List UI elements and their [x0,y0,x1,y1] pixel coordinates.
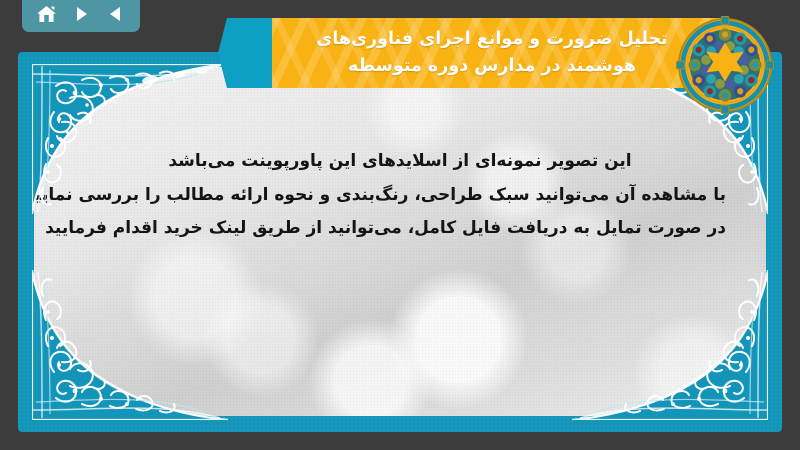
slide-content-area: این تصویر نمونه‌ای از اسلایدهای این پاور… [34,67,766,416]
title-line: هوشمند در مدارس دوره متوسطه [286,53,698,80]
next-slide-button[interactable] [68,2,94,26]
slide-title: تحلیل ضرورت و موانع اجرای فناوری‌های هوش… [272,26,720,79]
slide-body-text: این تصویر نمونه‌ای از اسلایدهای این پاور… [74,145,726,246]
slide-title-banner: تحلیل ضرورت و موانع اجرای فناوری‌های هوش… [272,18,720,88]
slide-frame: این تصویر نمونه‌ای از اسلایدهای این پاور… [18,52,782,432]
triangle-right-icon [71,4,91,24]
body-line: این تصویر نمونه‌ای از اسلایدهای این پاور… [74,145,726,179]
body-line: در صورت تمایل به دریافت فایل کامل، می‌تو… [74,212,726,246]
circular-mandala-ornament-icon [676,16,774,114]
body-line: با مشاهده آن می‌توانید سبک طراحی، رنگ‌بن… [74,179,726,213]
home-button[interactable] [33,2,59,26]
title-line: تحلیل ضرورت و موانع اجرای فناوری‌های [286,26,698,53]
home-icon [36,4,57,24]
triangle-left-icon [106,4,126,24]
banner-connector-chevron [218,18,274,88]
previous-slide-button[interactable] [103,2,129,26]
slide-viewer: این تصویر نمونه‌ای از اسلایدهای این پاور… [0,0,800,450]
navigation-toolbar [22,0,140,32]
